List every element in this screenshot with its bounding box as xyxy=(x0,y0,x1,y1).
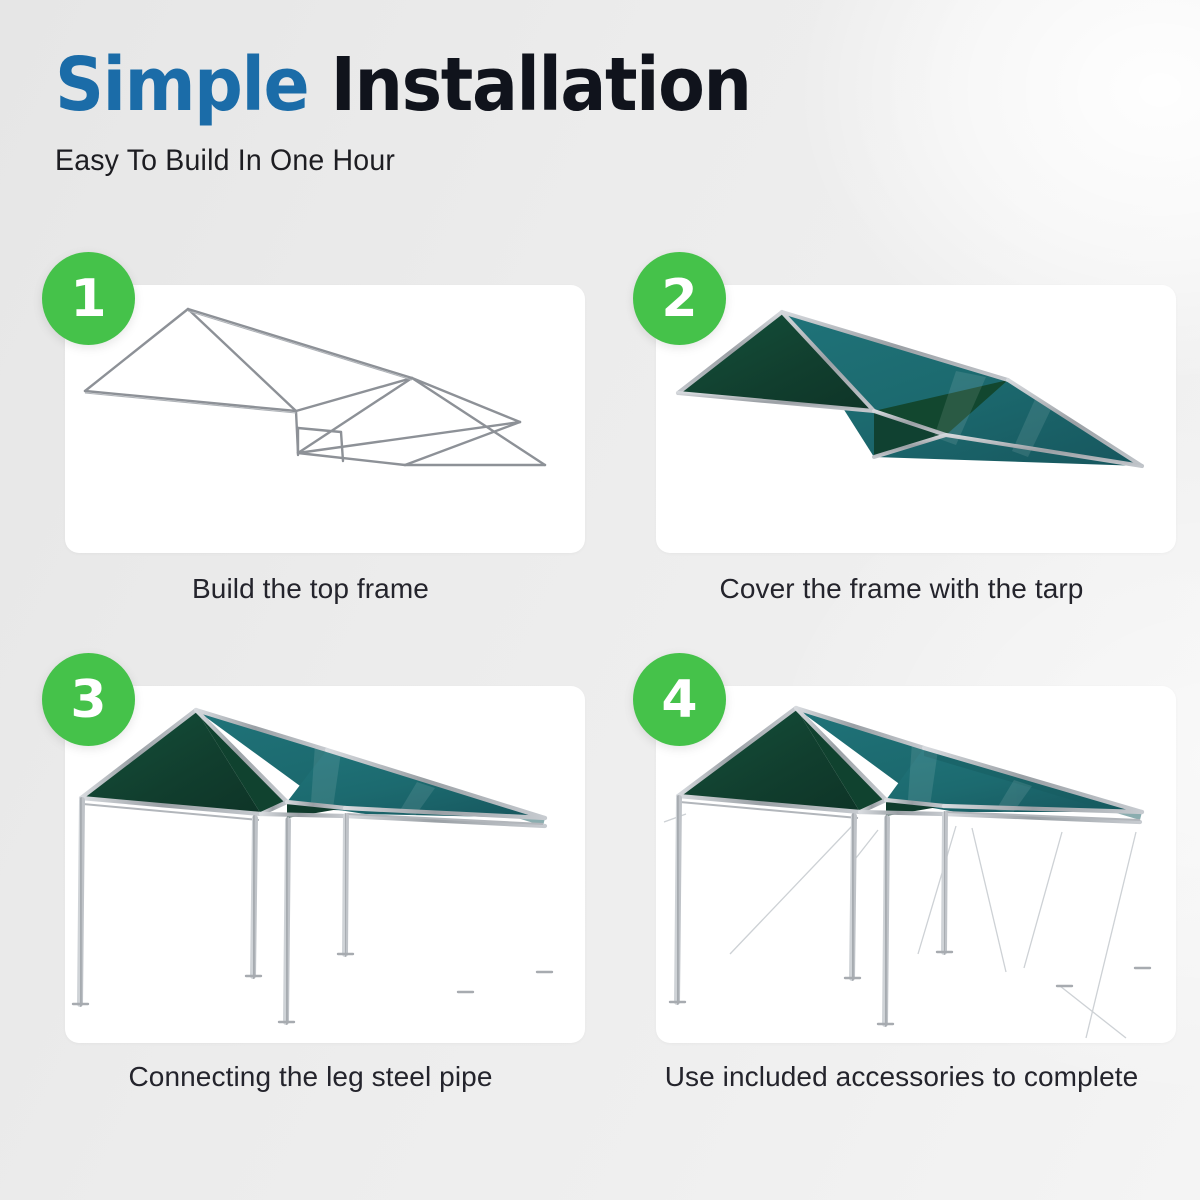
carport-top-frame-wireframe xyxy=(65,285,585,553)
step-3: 3 xyxy=(36,649,585,1093)
step-1: 1 xyxy=(36,248,585,605)
page-title-rest: Installation xyxy=(331,42,751,128)
step-caption-3: Connecting the leg steel pipe xyxy=(36,1061,585,1093)
step-caption-1: Build the top frame xyxy=(36,573,585,605)
step-caption-4: Use included accessories to complete xyxy=(627,1061,1176,1093)
carport-frame-with-tarp xyxy=(656,285,1176,553)
step-number-badge-1: 1 xyxy=(42,252,135,345)
step-illustration-card-4 xyxy=(656,686,1176,1043)
carport-complete-with-guy-ropes xyxy=(656,686,1176,1043)
step-4: 4 xyxy=(627,649,1176,1093)
step-number-badge-4: 4 xyxy=(633,653,726,746)
page-title-accent: Simple xyxy=(55,42,308,128)
step-number-badge-3: 3 xyxy=(42,653,135,746)
header: Simple Installation Easy To Build In One… xyxy=(55,48,811,178)
step-illustration-card-3 xyxy=(65,686,585,1043)
carport-with-legs xyxy=(65,686,585,1043)
steps-grid: 1 xyxy=(36,248,1176,1093)
page-subtitle: Easy To Build In One Hour xyxy=(55,144,773,178)
installation-infographic: Simple Installation Easy To Build In One… xyxy=(0,0,1200,1200)
step-caption-2: Cover the frame with the tarp xyxy=(627,573,1176,605)
step-number-badge-2: 2 xyxy=(633,252,726,345)
step-illustration-card-2 xyxy=(656,285,1176,553)
step-2: 2 xyxy=(627,248,1176,605)
step-illustration-card-1 xyxy=(65,285,585,553)
page-title: Simple Installation xyxy=(55,48,751,122)
